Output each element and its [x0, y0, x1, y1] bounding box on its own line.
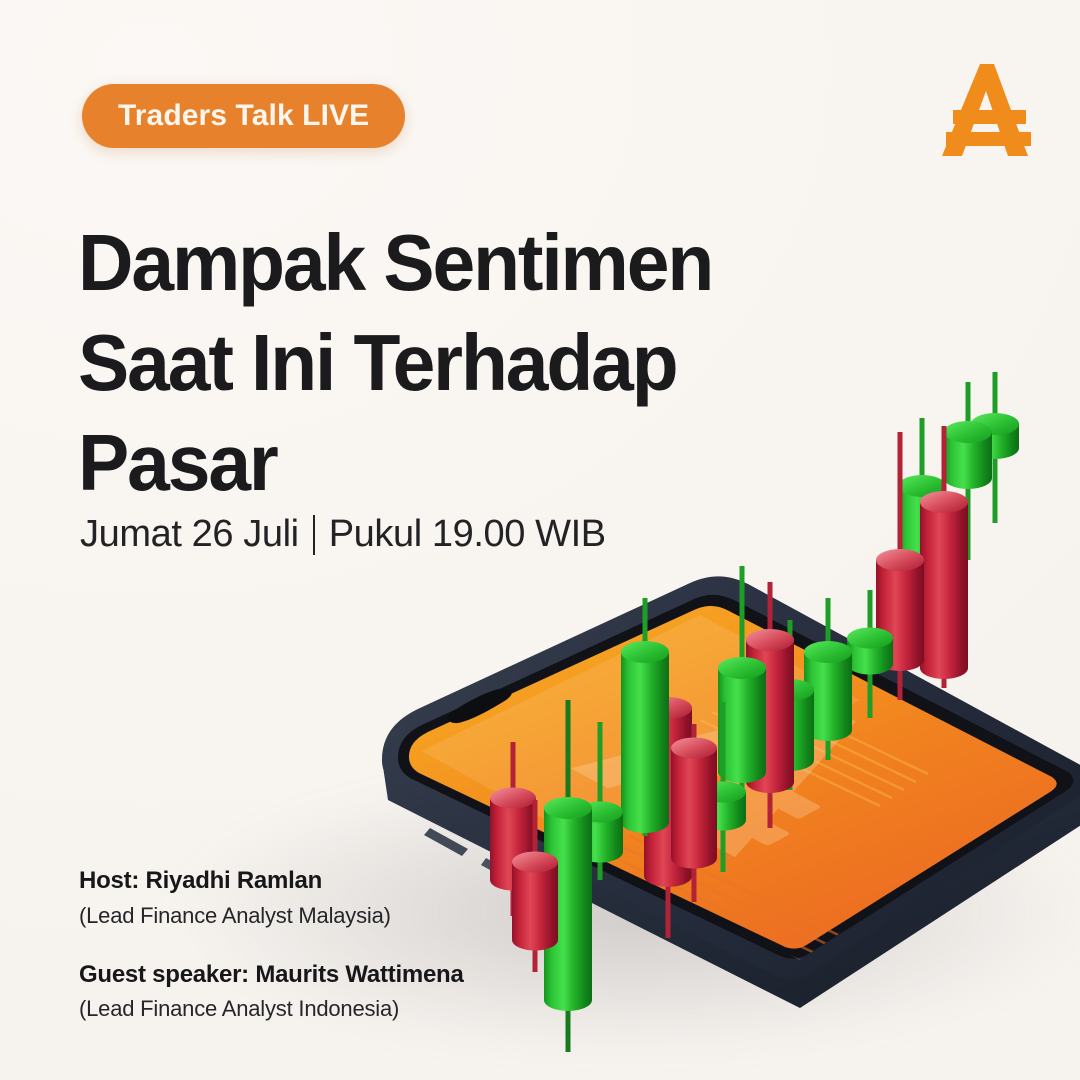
- event-date: Jumat 26 Juli: [80, 513, 299, 556]
- headline-line-3: Pasar: [78, 413, 808, 513]
- dateline-separator: [313, 515, 315, 555]
- live-badge[interactable]: Traders Talk LIVE: [82, 84, 405, 148]
- page-title: Dampak Sentimen Saat Ini Terhadap Pasar: [78, 213, 838, 513]
- speaker-credits: Host: Riyadhi Ramlan (Lead Finance Analy…: [79, 866, 464, 1024]
- headline-line-1: Dampak Sentimen: [78, 213, 808, 313]
- headline-line-2: Saat Ini Terhadap: [78, 313, 808, 413]
- promo-poster: Traders Talk LIVE Dampak Sentimen Saat I…: [0, 0, 1080, 1080]
- live-badge-label: Traders Talk LIVE: [118, 99, 369, 133]
- ascendex-a-logo-icon: [930, 58, 1038, 162]
- event-time: Pukul 19.00 WIB: [329, 513, 606, 556]
- guest-credit: Guest speaker: Maurits Wattimena (Lead F…: [79, 960, 464, 1024]
- guest-name: Guest speaker: Maurits Wattimena: [79, 960, 464, 991]
- logo-svg: [930, 58, 1038, 162]
- guest-role: (Lead Finance Analyst Indonesia): [79, 994, 464, 1023]
- host-name: Host: Riyadhi Ramlan: [79, 866, 464, 897]
- event-dateline: Jumat 26 Juli Pukul 19.00 WIB: [80, 513, 606, 556]
- host-role: (Lead Finance Analyst Malaysia): [79, 901, 464, 930]
- host-credit: Host: Riyadhi Ramlan (Lead Finance Analy…: [79, 866, 464, 930]
